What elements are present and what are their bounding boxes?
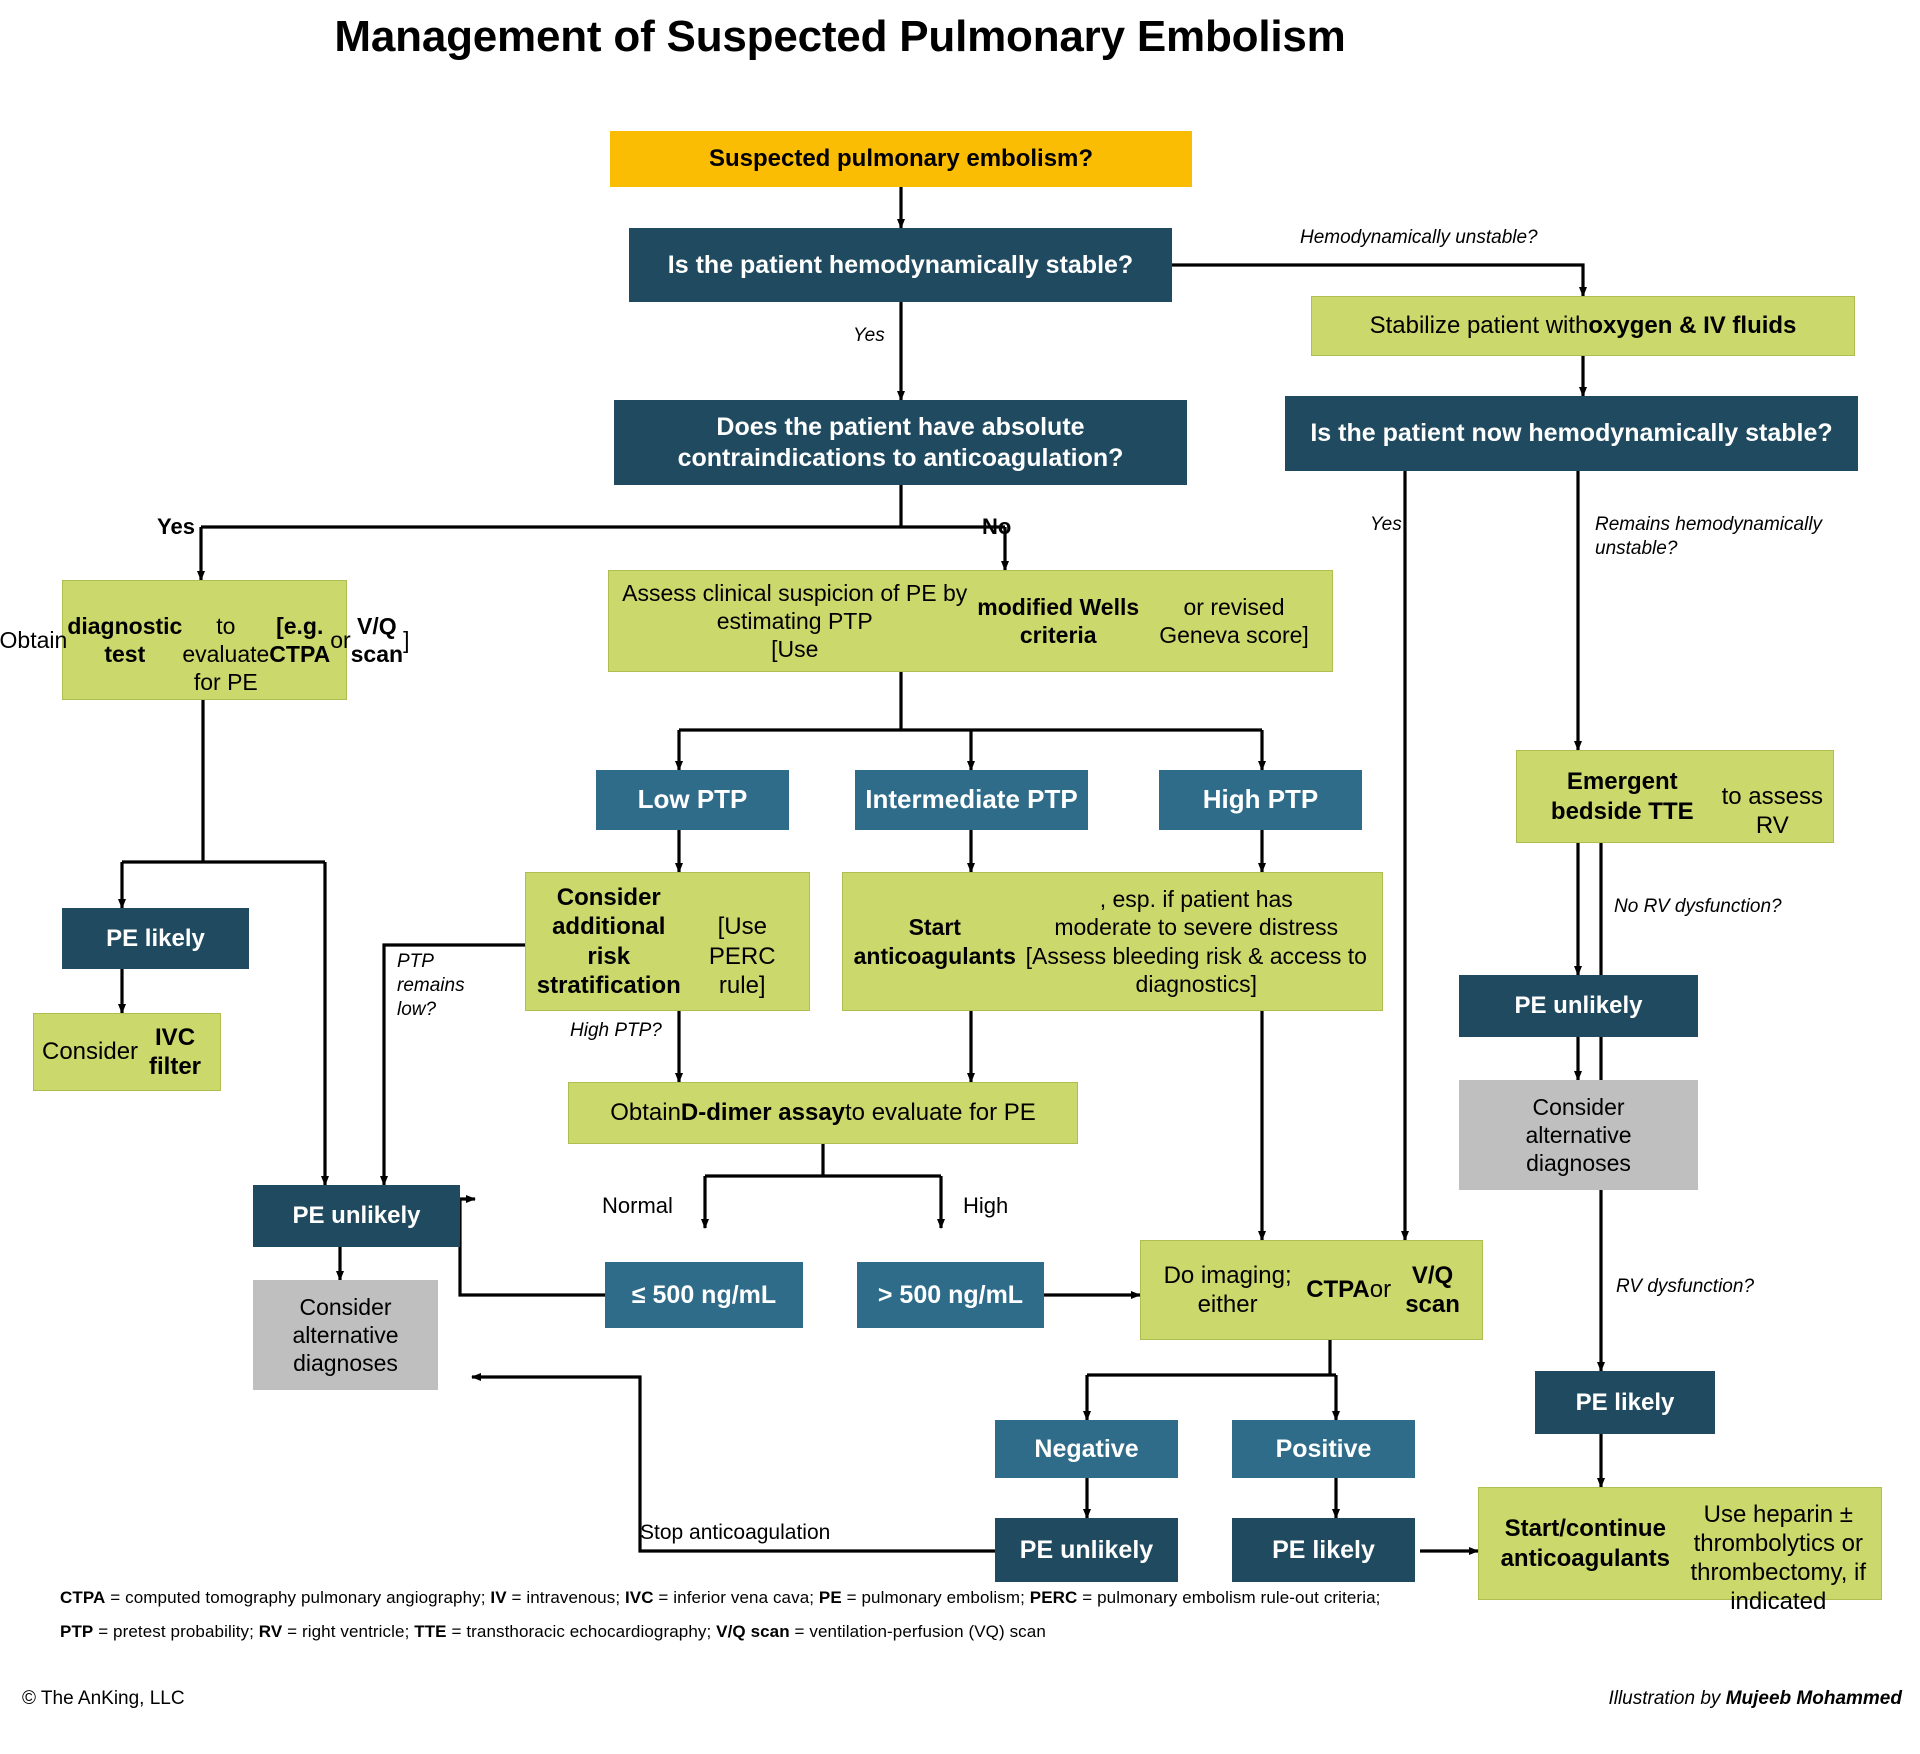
node-start[interactable]: Suspected pulmonary embolism? xyxy=(610,131,1192,187)
node-consider-risk-stratification[interactable]: Consider additionalrisk stratification[U… xyxy=(525,872,810,1011)
node-start-anticoagulants[interactable]: Start anticoagulants, esp. if patient ha… xyxy=(842,872,1383,1011)
edge-label-no-contraindications: No xyxy=(982,513,1011,541)
abbreviation-footnote-line-2: PTP = pretest probability; RV = right ve… xyxy=(60,1622,1870,1642)
edge-label-normal: Normal xyxy=(602,1192,673,1220)
node-consider-alternative-diagnoses-right[interactable]: Consideralternativediagnoses xyxy=(1459,1080,1698,1190)
edge-label-no-rv-dysfunction: No RV dysfunction? xyxy=(1614,895,1782,919)
node-pe-unlikely-imaging[interactable]: PE unlikely xyxy=(995,1518,1178,1582)
node-do-imaging[interactable]: Do imaging; eitherCTPA or V/Q scan xyxy=(1140,1240,1483,1340)
node-consider-ivc-filter[interactable]: ConsiderIVC filter xyxy=(33,1013,221,1091)
page-title: Management of Suspected Pulmonary Emboli… xyxy=(0,12,1680,62)
edge-label-yes-now-stable: Yes xyxy=(1370,513,1402,537)
node-now-hemodynamically-stable-question[interactable]: Is the patient now hemodynamically stabl… xyxy=(1285,396,1858,471)
edge-label-rv-dysfunction: RV dysfunction? xyxy=(1616,1275,1754,1299)
node-emergent-bedside-tte[interactable]: Emergent bedside TTEto assess RV xyxy=(1516,750,1834,843)
node-pe-likely-contraindication[interactable]: PE likely xyxy=(62,908,249,969)
node-stabilize-patient[interactable]: Stabilize patient with oxygen & IV fluid… xyxy=(1311,296,1855,356)
node-pe-likely-imaging[interactable]: PE likely xyxy=(1232,1518,1415,1582)
edge-label-hemodynamically-unstable: Hemodynamically unstable? xyxy=(1300,226,1538,250)
node-high-ptp[interactable]: High PTP xyxy=(1159,770,1362,830)
node-pe-likely-rv-dysfunction[interactable]: PE likely xyxy=(1535,1371,1715,1434)
node-obtain-diagnostic-test[interactable]: Obtain diagnostic testto evaluate for PE… xyxy=(62,580,347,700)
edge-label-stop-anticoagulation: Stop anticoagulation xyxy=(640,1520,830,1546)
edge-label-ptp-remains-low: PTP remains low? xyxy=(397,950,465,1021)
node-pe-unlikely-no-rv-dysfunction[interactable]: PE unlikely xyxy=(1459,975,1698,1037)
node-imaging-positive[interactable]: Positive xyxy=(1232,1420,1415,1478)
edge-label-high: High xyxy=(963,1192,1008,1220)
node-start-continue-anticoagulants[interactable]: Start/continue anticoagulantsUse heparin… xyxy=(1478,1487,1882,1600)
node-assess-ptp[interactable]: Assess clinical suspicion of PE by estim… xyxy=(608,570,1333,672)
node-low-ptp[interactable]: Low PTP xyxy=(596,770,789,830)
node-intermediate-ptp[interactable]: Intermediate PTP xyxy=(855,770,1088,830)
node-contraindications-question[interactable]: Does the patient have absolutecontraindi… xyxy=(614,400,1187,485)
edge-label-yes-contraindications: Yes xyxy=(157,513,195,541)
abbreviation-footnote-line-1: CTPA = computed tomography pulmonary ang… xyxy=(60,1588,1870,1608)
node-obtain-d-dimer[interactable]: Obtain D-dimer assay to evaluate for PE xyxy=(568,1082,1078,1144)
node-ddimer-normal-value[interactable]: ≤ 500 ng/mL xyxy=(605,1262,803,1328)
node-imaging-negative[interactable]: Negative xyxy=(995,1420,1178,1478)
edge-label-yes-stable: Yes xyxy=(853,324,885,348)
edge-label-remains-unstable: Remains hemodynamically unstable? xyxy=(1595,513,1822,561)
node-pe-unlikely-ptp[interactable]: PE unlikely xyxy=(253,1185,460,1247)
node-hemodynamically-stable-question[interactable]: Is the patient hemodynamically stable? xyxy=(629,228,1172,302)
copyright-notice: © The AnKing, LLC xyxy=(22,1688,185,1710)
node-ddimer-high-value[interactable]: > 500 ng/mL xyxy=(857,1262,1044,1328)
illustration-credit: Illustration by Mujeeb Mohammed xyxy=(1608,1688,1902,1710)
node-consider-alternative-diagnoses-left[interactable]: Consideralternativediagnoses xyxy=(253,1280,438,1390)
edge-label-high-ptp-question: High PTP? xyxy=(570,1019,662,1043)
